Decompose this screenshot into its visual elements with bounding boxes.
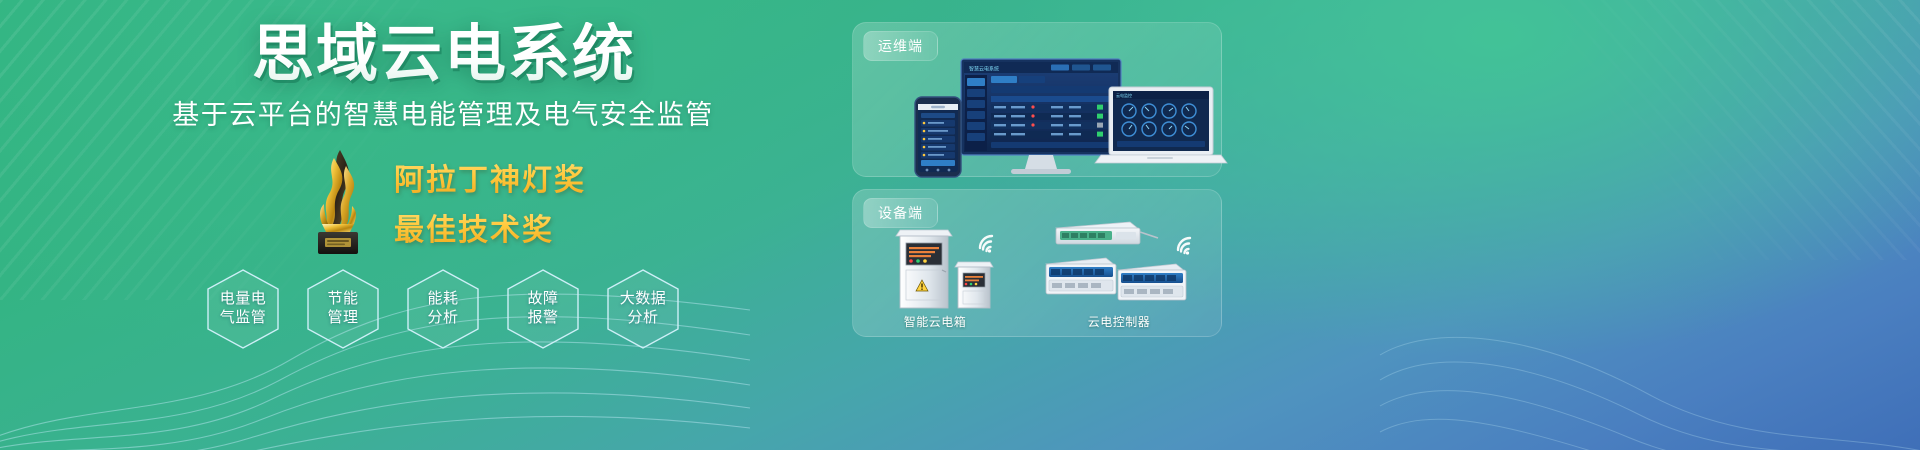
award-text-group: 阿拉丁神灯奖 最佳技术奖 — [394, 155, 586, 249]
phone-mockup — [915, 97, 961, 177]
svg-text:智慧云电系统: 智慧云电系统 — [969, 66, 999, 73]
award-line-1: 阿拉丁神灯奖 — [394, 155, 586, 199]
badge-label-line1: 能耗 — [427, 290, 458, 307]
badge-energy-saving[interactable]: 节能 管理 — [304, 268, 382, 350]
badge-label-line2: 报警 — [527, 309, 558, 326]
smart-cloud-cabinet-icon — [870, 218, 1000, 310]
banner-left-content: 思域云电系统 基于云平台的智慧电能管理及电气安全监管 — [0, 0, 860, 450]
device-caption: 云电控制器 — [1088, 313, 1151, 330]
badge-consumption-analysis[interactable]: 能耗 分析 — [404, 268, 482, 350]
device-item-cabinet[interactable]: 智能云电箱 — [870, 218, 1000, 330]
badge-label: 故障 报警 — [512, 290, 574, 328]
badge-big-data-analysis[interactable]: 大数据 分析 — [604, 268, 682, 350]
award-block: 阿拉丁神灯奖 最佳技术奖 — [0, 148, 860, 256]
badge-label-line2: 气监管 — [220, 309, 267, 326]
promo-banner: 思域云电系统 基于云平台的智慧电能管理及电气安全监管 — [0, 0, 1920, 450]
cloud-controller-icon — [1034, 218, 1204, 310]
badge-label-line2: 分析 — [627, 309, 658, 326]
badge-label: 节能 管理 — [312, 290, 374, 328]
device-terminal-panel: 设备端 — [852, 189, 1222, 337]
badge-label-line1: 大数据 — [620, 290, 667, 307]
device-caption: 智能云电箱 — [904, 313, 967, 330]
badge-label-line1: 电量电 — [220, 290, 267, 307]
svg-text:云电监控: 云电监控 — [1116, 92, 1132, 98]
device-items-row: 智能云电箱 — [853, 218, 1221, 330]
badge-label: 电量电 气监管 — [212, 290, 274, 328]
badge-label-line2: 分析 — [427, 309, 458, 326]
feature-badge-list: 电量电 气监管 节能 管理 能耗 分析 — [0, 268, 860, 350]
badge-label-line1: 故障 — [527, 290, 558, 307]
ops-device-mockups: 智慧云电系统 — [901, 59, 1219, 177]
decorative-stripes-right — [1560, 0, 1920, 260]
page-subtitle: 基于云平台的智慧电能管理及电气安全监管 — [0, 93, 860, 132]
badge-label-line1: 节能 — [327, 290, 358, 307]
badge-label-line2: 管理 — [327, 309, 358, 326]
ops-terminal-panel: 运维端 — [852, 22, 1222, 177]
badge-fault-alarm[interactable]: 故障 报警 — [504, 268, 582, 350]
badge-label: 大数据 分析 — [612, 290, 674, 328]
banner-right-panels: 运维端 — [852, 22, 1232, 337]
decorative-wave-lines-right — [1420, 280, 1920, 450]
laptop-mockup: 云电监控 — [1095, 87, 1227, 163]
award-line-2: 最佳技术奖 — [394, 205, 586, 249]
badge-power-supervision[interactable]: 电量电 气监管 — [204, 268, 282, 350]
desktop-monitor-mockup: 智慧云电系统 — [961, 59, 1121, 174]
ops-panel-tag: 运维端 — [863, 31, 938, 61]
device-item-controller[interactable]: 云电控制器 — [1034, 218, 1204, 330]
badge-label: 能耗 分析 — [412, 290, 474, 328]
trophy-icon — [300, 148, 372, 256]
page-title: 思域云电系统 — [0, 22, 860, 89]
